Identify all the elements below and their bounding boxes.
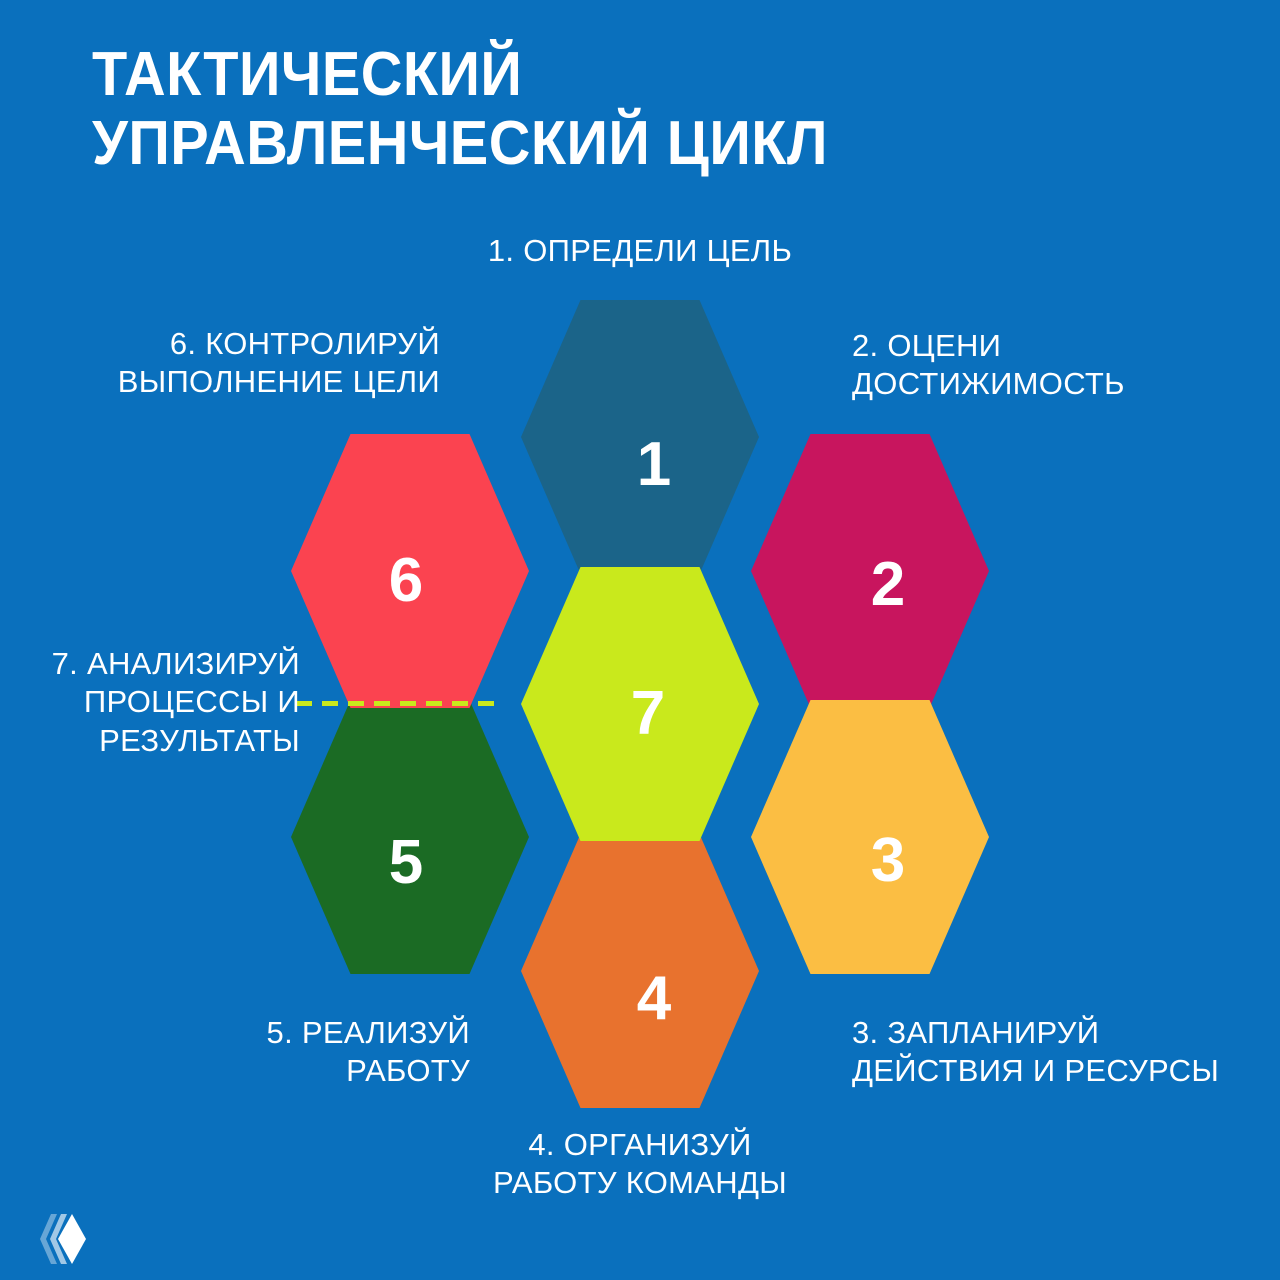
hex-step-7[interactable]: 7 [521,567,759,841]
hex-step-1[interactable]: 1 [521,300,759,574]
hex-step-7-number: 7 [631,683,665,745]
caption-step-4: 4. ОРГАНИЗУЙ РАБОТУ КОМАНДЫ [440,1126,840,1203]
hex-step-4-number: 4 [637,968,671,1030]
caption-step-1: 1. ОПРЕДЕЛИ ЦЕЛЬ [390,232,890,270]
hex-step-2-number: 2 [871,554,905,616]
caption-step-2: 2. ОЦЕНИ ДОСТИЖИМОСТЬ [852,327,1212,404]
hex-step-3[interactable]: 3 [751,700,989,974]
caption-step-6: 6. КОНТРОЛИРУЙ ВЫПОЛНЕНИЕ ЦЕЛИ [30,325,440,402]
logo-icon [34,1210,90,1268]
hex-step-5[interactable]: 5 [291,700,529,974]
dashed-connector-line [296,701,504,706]
caption-step-5: 5. РЕАЛИЗУЙ РАБОТУ [100,1014,470,1091]
hex-step-1-number: 1 [637,434,671,496]
hex-step-2[interactable]: 2 [751,434,989,708]
nested-diamonds-logo[interactable] [34,1210,90,1268]
hex-step-5-number: 5 [389,832,423,894]
caption-step-3: 3. ЗАПЛАНИРУЙ ДЕЙСТВИЯ И РЕСУРСЫ [852,1014,1252,1091]
hex-step-6[interactable]: 6 [291,434,529,708]
hex-step-4[interactable]: 4 [521,834,759,1108]
hex-step-3-number: 3 [871,830,905,892]
hex-step-6-number: 6 [389,550,423,612]
caption-step-7: 7. АНАЛИЗИРУЙ ПРОЦЕССЫ И РЕЗУЛЬТАТЫ [0,645,300,760]
